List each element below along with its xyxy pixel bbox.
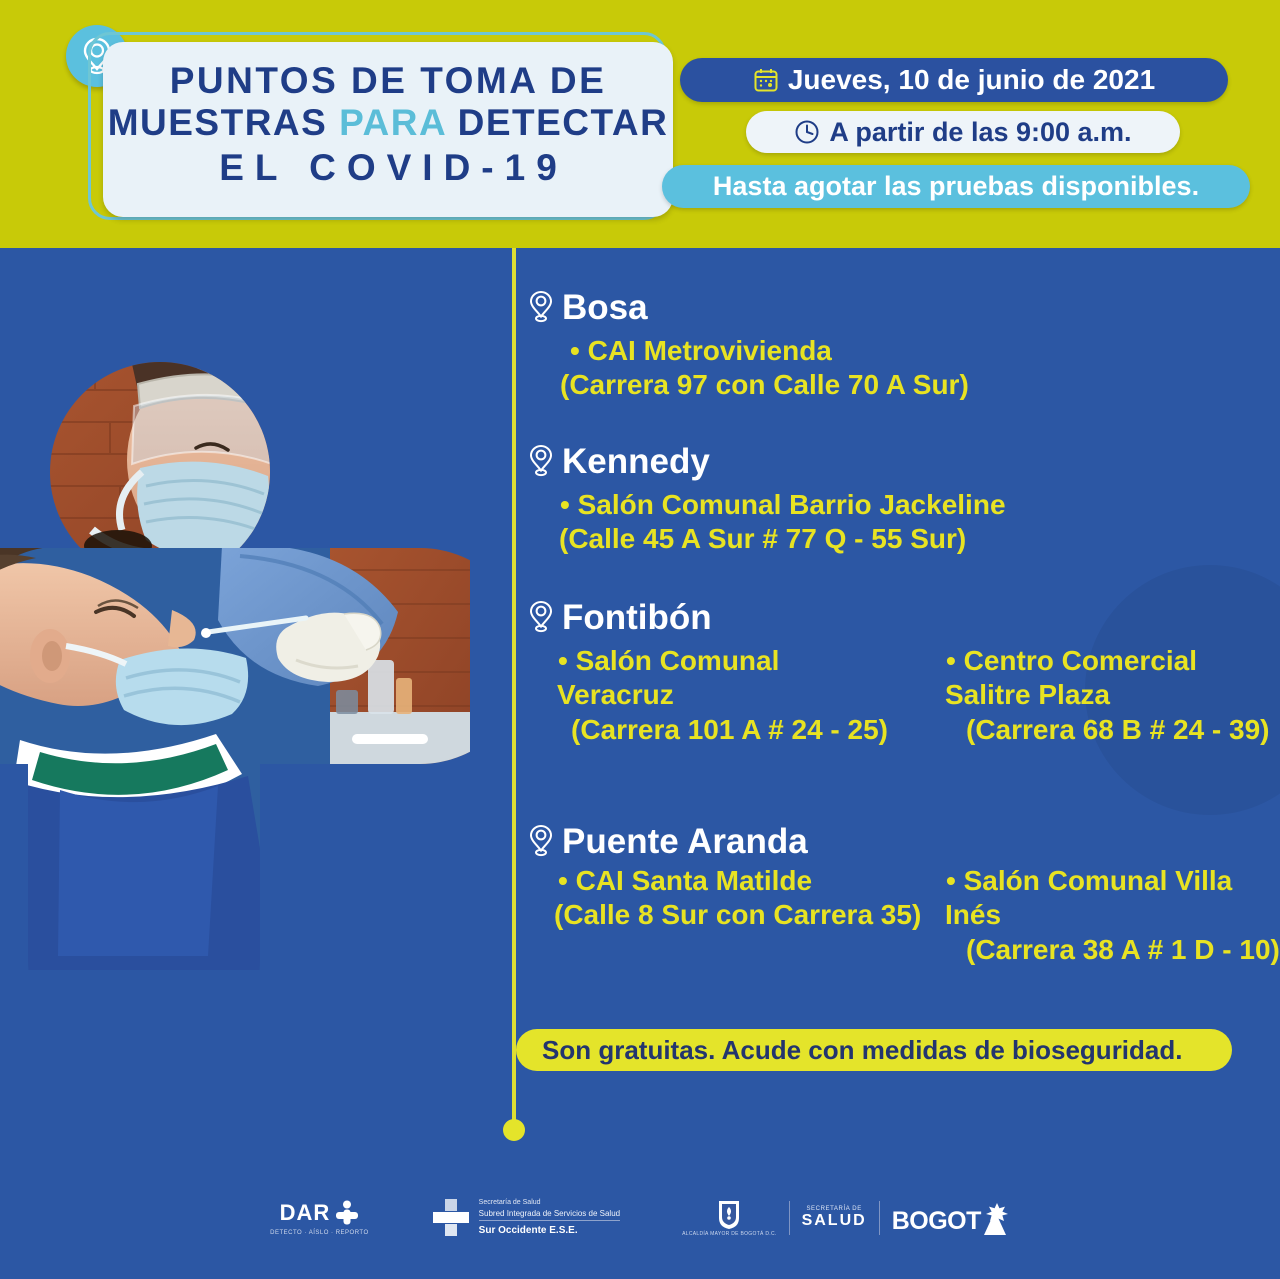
- site-column-left: • CAI Santa Matilde (Calle 8 Sur con Car…: [558, 864, 946, 967]
- site-entry: • CAI Santa Matilde: [558, 864, 946, 898]
- site-address: (Carrera 101 A # 24 - 25): [571, 713, 946, 747]
- site-name: Salón Comunal: [576, 645, 780, 676]
- title-part-para: PARA: [339, 102, 446, 143]
- shield-crest-icon: [716, 1199, 742, 1231]
- locality-name: Kennedy: [562, 442, 710, 482]
- site-entry: • Salón Comunal: [558, 644, 946, 678]
- site-entry: • Salón Comunal Villa: [946, 864, 1280, 898]
- map-pin-icon: [528, 444, 554, 480]
- photo-collage: [0, 360, 470, 970]
- bogota-wordmark: BOGOT: [892, 1209, 981, 1234]
- page-title-line3: EL COVID-19: [103, 144, 673, 189]
- person-cross-icon: [335, 1200, 359, 1226]
- time-badge: A partir de las 9:00 a.m.: [746, 111, 1180, 153]
- photo-main-cross: [0, 538, 470, 970]
- page-title-line1: PUNTOS DE TOMA DE: [103, 56, 673, 102]
- locality-name: Bosa: [562, 288, 648, 328]
- bullet-icon: •: [946, 645, 956, 676]
- subred-line1: Secretaría de Salud: [479, 1198, 620, 1208]
- title-card: PUNTOS DE TOMA DE MUESTRAS PARA DETECTAR…: [103, 42, 673, 217]
- salud-wordmark: SALUD: [802, 1212, 867, 1230]
- bullet-icon: •: [558, 645, 568, 676]
- star-icon: [980, 1202, 1010, 1236]
- photo-collage-svg: [0, 360, 470, 970]
- alcaldia-caption: ALCALDÍA MAYOR DE BOGOTÁ D.C.: [682, 1231, 776, 1237]
- site-address: (Carrera 68 B # 24 - 39): [966, 713, 1270, 747]
- availability-badge-label: Hasta agotar las pruebas disponibles.: [713, 171, 1199, 202]
- site-address: (Calle 45 A Sur # 77 Q - 55 Sur): [559, 522, 1006, 556]
- date-badge-label: Jueves, 10 de junio de 2021: [788, 64, 1155, 96]
- locality-bosa-header: Bosa: [528, 288, 969, 328]
- dar-wordmark: DAR: [280, 1202, 331, 1224]
- map-pin-icon: [528, 290, 554, 326]
- subred-line3: Sur Occidente E.S.E.: [479, 1220, 620, 1238]
- site-name: CAI Metrovivienda: [588, 335, 832, 366]
- cross-icon: [431, 1197, 471, 1239]
- site-address: (Carrera 97 con Calle 70 A Sur): [560, 368, 969, 402]
- site-entry: • CAI Metrovivienda: [570, 334, 969, 368]
- bullet-icon: •: [558, 865, 568, 896]
- logo-divider: [879, 1201, 880, 1235]
- note-banner-label: Son gratuitas. Acude con medidas de bios…: [542, 1035, 1182, 1066]
- time-badge-label: A partir de las 9:00 a.m.: [829, 117, 1131, 148]
- bullet-icon: •: [570, 335, 580, 366]
- header-band: PUNTOS DE TOMA DE MUESTRAS PARA DETECTAR…: [0, 0, 1280, 248]
- locality-bosa: Bosa • CAI Metrovivienda (Carrera 97 con…: [516, 288, 969, 403]
- logo-divider: [789, 1201, 790, 1235]
- map-pin-icon: [528, 824, 554, 860]
- site-entry: • Salón Comunal Barrio Jackeline: [560, 488, 1006, 522]
- site-name-cont: Inés: [945, 898, 1280, 932]
- site-name: Salón Comunal Villa: [964, 865, 1233, 896]
- clock-icon: [794, 119, 820, 145]
- dar-tagline: DETECTO · AÍSLO · REPORTO: [270, 1230, 369, 1236]
- site-name: Salón Comunal Barrio Jackeline: [578, 489, 1006, 520]
- timeline-end-dot: [503, 1119, 525, 1141]
- locality-name: Fontibón: [562, 598, 712, 638]
- bullet-icon: •: [946, 865, 956, 896]
- logo-strip: DAR DETECTO · AÍSLO · REPORTO Secretaría…: [0, 1178, 1280, 1258]
- page-title-line2: MUESTRAS PARA DETECTAR: [103, 102, 673, 144]
- logo-dar: DAR DETECTO · AÍSLO · REPORTO: [270, 1200, 369, 1236]
- date-badge: Jueves, 10 de junio de 2021: [680, 58, 1228, 102]
- locality-fontibon: Fontibón • Salón Comunal Veracruz (Carre…: [516, 598, 1270, 747]
- site-entry: • Centro Comercial: [946, 644, 1270, 678]
- title-part-muestras: MUESTRAS: [108, 102, 339, 143]
- subred-line2: Subred Integrada de Servicios de Salud: [479, 1208, 620, 1220]
- site-name-cont: Veracruz: [557, 678, 946, 712]
- logo-subred: Secretaría de Salud Subred Integrada de …: [431, 1197, 620, 1239]
- locality-puente-aranda-header: Puente Aranda: [528, 822, 1280, 862]
- site-name-cont: Salitre Plaza: [945, 678, 1270, 712]
- site-column-right: • Salón Comunal Villa Inés (Carrera 38 A…: [946, 864, 1280, 967]
- locality-kennedy-header: Kennedy: [528, 442, 1006, 482]
- locality-fontibon-header: Fontibón: [528, 598, 1270, 638]
- availability-badge: Hasta agotar las pruebas disponibles.: [662, 165, 1250, 208]
- locality-puente-aranda: Puente Aranda • CAI Santa Matilde (Calle…: [516, 822, 1280, 967]
- locality-name: Puente Aranda: [562, 822, 808, 862]
- site-column-right: • Centro Comercial Salitre Plaza (Carrer…: [946, 644, 1270, 747]
- title-part-detectar: DETECTAR: [446, 102, 668, 143]
- calendar-icon: [753, 67, 779, 93]
- map-pin-icon: [528, 600, 554, 636]
- locality-kennedy: Kennedy • Salón Comunal Barrio Jackeline…: [516, 442, 1006, 557]
- note-banner: Son gratuitas. Acude con medidas de bios…: [516, 1029, 1232, 1071]
- bullet-icon: •: [560, 489, 570, 520]
- site-column-left: • Salón Comunal Veracruz (Carrera 101 A …: [558, 644, 946, 747]
- site-name: CAI Santa Matilde: [576, 865, 812, 896]
- site-name: Centro Comercial: [964, 645, 1197, 676]
- logo-gov-group: ALCALDÍA MAYOR DE BOGOTÁ D.C. SECRETARÍA…: [682, 1199, 1010, 1237]
- site-address: (Calle 8 Sur con Carrera 35): [554, 898, 946, 932]
- poster-root: PUNTOS DE TOMA DE MUESTRAS PARA DETECTAR…: [0, 0, 1280, 1279]
- site-address: (Carrera 38 A # 1 D - 10): [966, 933, 1280, 967]
